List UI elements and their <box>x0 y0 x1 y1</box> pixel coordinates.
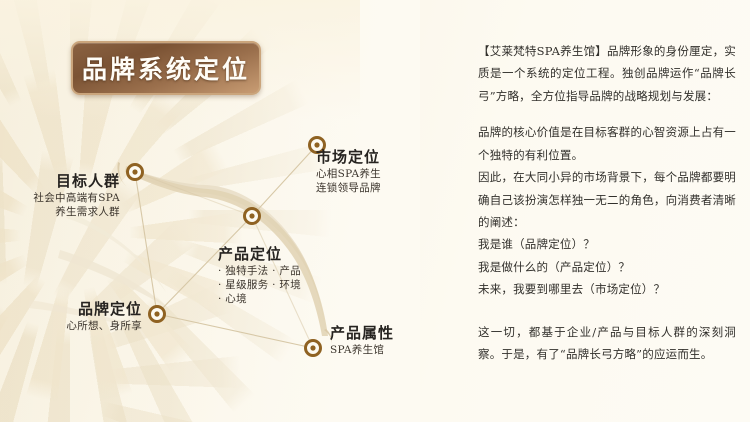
node-subline: 养生需求人群 <box>0 205 120 219</box>
marker-brand-position[interactable] <box>150 307 165 322</box>
node-subline: 社会中高端有SPA <box>0 191 120 205</box>
slide-canvas: 品牌系统定位 <box>0 0 750 422</box>
node-product-position[interactable]: 产品定位 · 独特手法 · 产品 · 星级服务 · 环境 · 心境 <box>218 245 398 306</box>
copy-line: 我是做什么的（产品定位）？ <box>478 256 736 278</box>
node-subline: · 心境 <box>218 292 398 306</box>
node-target-audience[interactable]: 目标人群 社会中高端有SPA 养生需求人群 <box>0 172 120 219</box>
node-brand-position[interactable]: 品牌定位 心所想、身所享 <box>0 300 142 333</box>
body-copy: 【艾莱梵特SPA养生馆】品牌形象的身份厘定，实质是一个系统的定位工程。独创品牌运… <box>478 40 736 379</box>
copy-paragraph-3: 这一切，都基于企业/产品与目标人群的深刻洞察。于是，有了“品牌长弓方略”的应运而… <box>478 321 736 366</box>
node-subline: · 独特手法 · 产品 <box>218 264 398 278</box>
node-subline: SPA养生馆 <box>330 343 480 357</box>
node-heading: 品牌定位 <box>0 300 142 319</box>
node-market-position[interactable]: 市场定位 心相SPA养生 连锁领导品牌 <box>316 148 466 195</box>
marker-product-attribute[interactable] <box>306 341 321 356</box>
copy-paragraph-2: 品牌的核心价值是在目标客群的心智资源上占有一个独特的有利位置。 因此，在大同小异… <box>478 121 736 300</box>
node-heading: 市场定位 <box>316 148 466 167</box>
copy-paragraph-1: 【艾莱梵特SPA养生馆】品牌形象的身份厘定，实质是一个系统的定位工程。独创品牌运… <box>478 40 736 107</box>
node-subline: 心所想、身所享 <box>0 319 142 333</box>
node-product-attribute[interactable]: 产品属性 SPA养生馆 <box>330 324 480 357</box>
copy-line: 未来，我要到哪里去（市场定位）？ <box>478 278 736 300</box>
node-heading: 目标人群 <box>0 172 120 191</box>
marker-product-position[interactable] <box>245 209 260 224</box>
node-subline: 连锁领导品牌 <box>316 181 466 195</box>
marker-target-audience[interactable] <box>128 165 143 180</box>
copy-line: 我是谁（品牌定位）？ <box>478 233 736 255</box>
node-subline: 心相SPA养生 <box>316 167 466 181</box>
node-heading: 产品定位 <box>218 245 398 264</box>
copy-line: 因此，在大同小异的市场背景下，每个品牌都要明确自己该扮演怎样独一无二的角色，向消… <box>478 166 736 233</box>
node-subline: · 星级服务 · 环境 <box>218 278 398 292</box>
node-heading: 产品属性 <box>330 324 480 343</box>
copy-line: 品牌的核心价值是在目标客群的心智资源上占有一个独特的有利位置。 <box>478 121 736 166</box>
